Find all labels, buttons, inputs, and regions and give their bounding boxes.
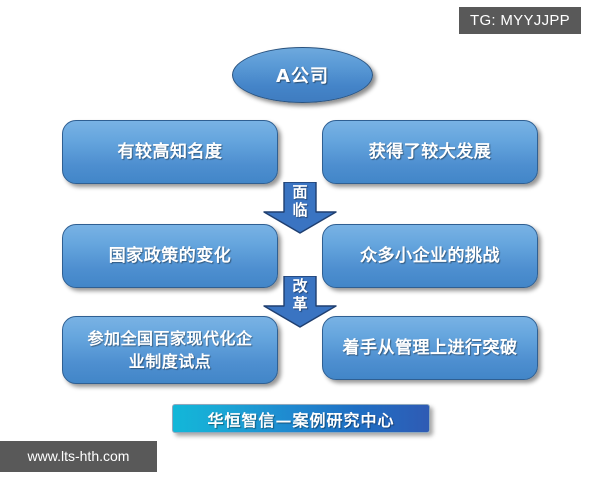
tg-badge: TG: MYYJJPP — [459, 7, 581, 34]
node-row3-right[interactable]: 着手从管理上进行突破 — [322, 316, 538, 380]
diagram-canvas: TG: MYYJJPP A公司 有较高知名度 获得了较大发展 面 临 国家政策的… — [0, 0, 600, 480]
node-row2-right[interactable]: 众多小企业的挑战 — [322, 224, 538, 288]
node-row1-right[interactable]: 获得了较大发展 — [322, 120, 538, 184]
node-row1-left-label: 有较高知名度 — [118, 140, 223, 164]
node-row1-right-label: 获得了较大发展 — [369, 140, 492, 164]
node-row2-left-label: 国家政策的变化 — [109, 244, 232, 268]
node-row3-left-label: 参加全国百家现代化企 业制度试点 — [87, 327, 252, 373]
node-root-company-label: A公司 — [276, 62, 329, 88]
node-row1-left[interactable]: 有较高知名度 — [62, 120, 278, 184]
node-row3-right-label: 着手从管理上进行突破 — [343, 336, 518, 360]
footer-banner: 华恒智信—案例研究中心 — [172, 404, 430, 433]
node-row2-left[interactable]: 国家政策的变化 — [62, 224, 278, 288]
node-root-company[interactable]: A公司 — [232, 47, 373, 103]
footer-banner-label: 华恒智信—案例研究中心 — [207, 407, 394, 431]
site-watermark: www.lts-hth.com — [0, 441, 157, 472]
node-row3-left[interactable]: 参加全国百家现代化企 业制度试点 — [62, 316, 278, 384]
node-row2-right-label: 众多小企业的挑战 — [360, 244, 500, 268]
